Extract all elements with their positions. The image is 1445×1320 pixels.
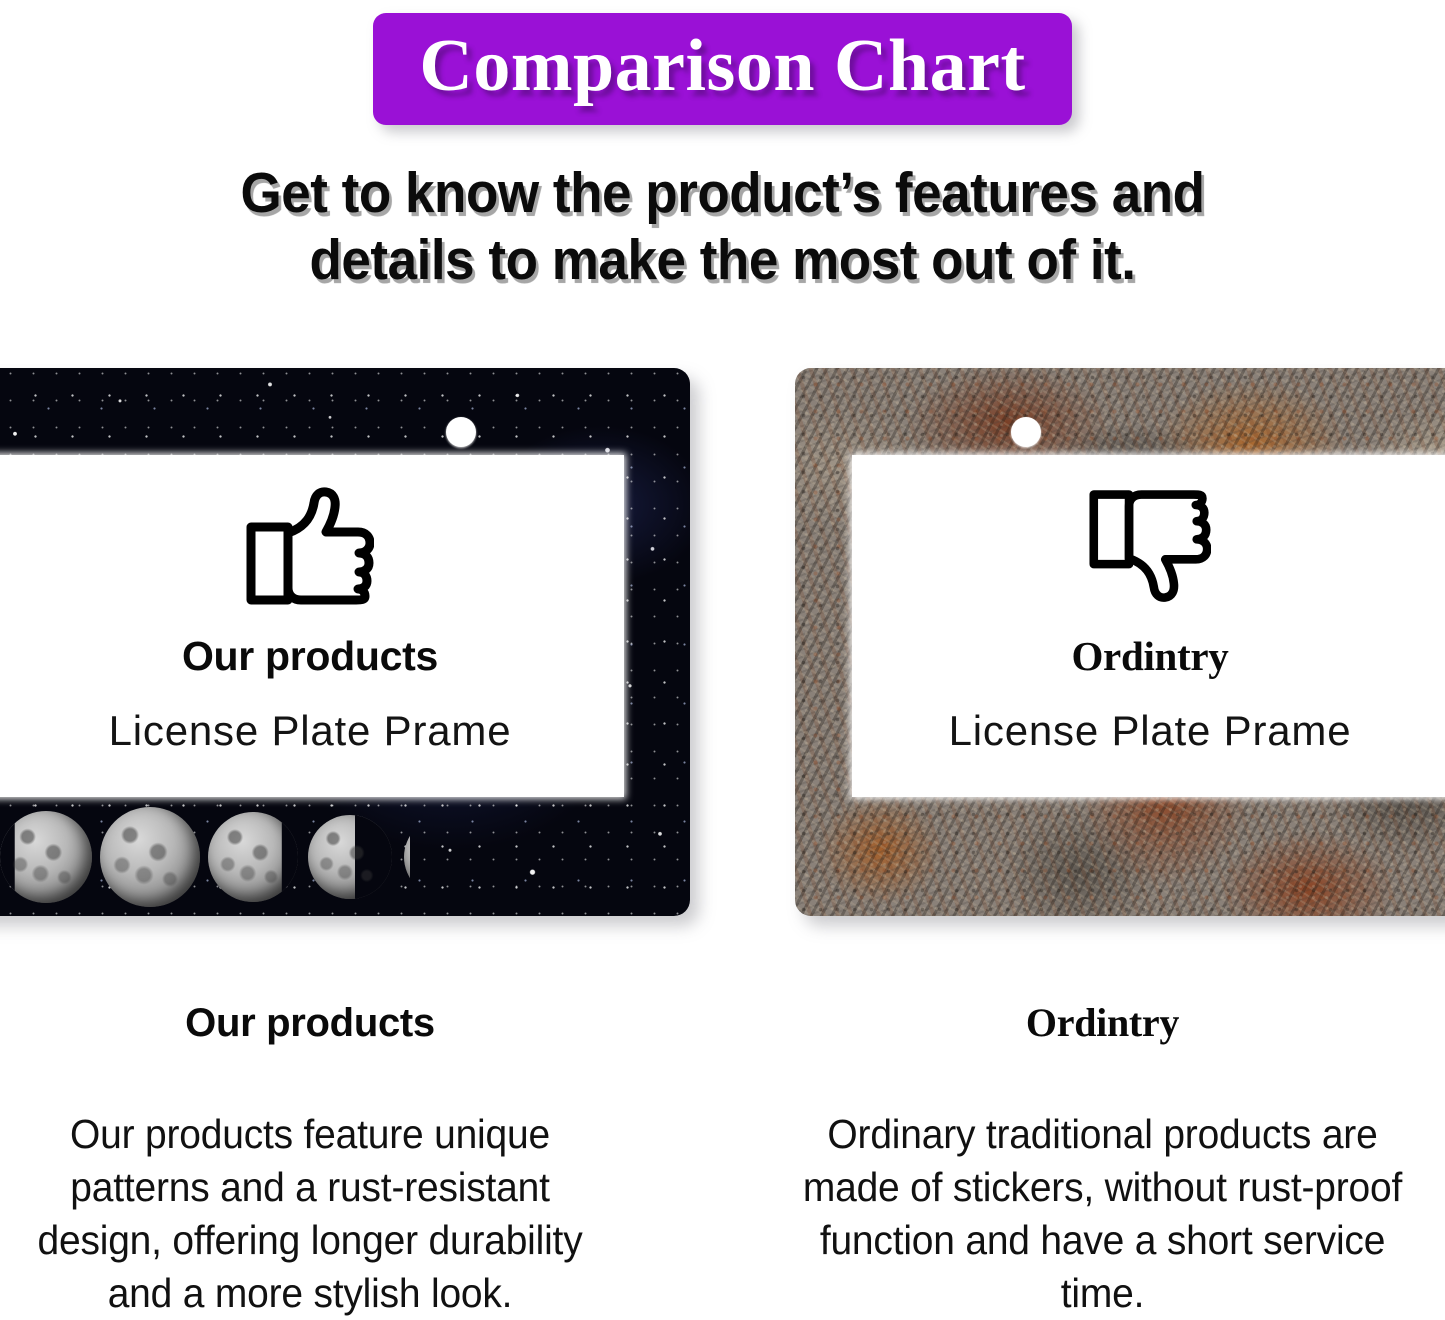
column-body-ours: Our products feature unique patterns and… — [25, 1108, 595, 1320]
column-heading-ours: Our products — [10, 1000, 610, 1046]
plate-heading-ordinary: Ordintry — [855, 633, 1445, 679]
mounting-hole-ours — [446, 417, 476, 447]
thumbs-up-icon — [246, 487, 374, 605]
page-subtitle: Get to know the product’s features and d… — [51, 160, 1395, 294]
page-subtitle-line-2: details to make the most out of it. — [51, 227, 1395, 294]
plate-subheading-ordinary: License Plate Prame — [855, 707, 1445, 755]
comparison-column-ours: Our products Our products feature unique… — [10, 1000, 610, 1320]
moon-phase-icon — [308, 815, 392, 899]
thumbs-down-icon — [1089, 487, 1211, 605]
mounting-hole-ordinary — [1011, 417, 1041, 447]
moon-phase-icon — [0, 811, 92, 903]
comparison-column-ordinary: Ordintry Ordinary traditional products a… — [775, 1000, 1430, 1320]
moon-phase-icon — [208, 812, 298, 902]
plate-content-ordinary: Ordintry License Plate Prame — [855, 487, 1445, 755]
plate-subheading-ours: License Plate Prame — [0, 707, 620, 755]
header-banner-container: Comparison Chart — [0, 13, 1445, 125]
page-subtitle-line-1: Get to know the product’s features and — [51, 160, 1395, 227]
plate-content-ours: Our products License Plate Prame — [0, 487, 620, 755]
moon-phase-icon — [404, 817, 410, 897]
page-title: Comparison Chart — [419, 19, 1025, 113]
column-heading-ordinary: Ordintry — [775, 1000, 1430, 1046]
moon-phase-icon — [100, 807, 200, 907]
moon-phase-strip — [0, 798, 410, 916]
plate-heading-ours: Our products — [0, 633, 620, 679]
header-banner: Comparison Chart — [373, 13, 1071, 125]
column-body-ordinary: Ordinary traditional products are made o… — [791, 1108, 1413, 1320]
